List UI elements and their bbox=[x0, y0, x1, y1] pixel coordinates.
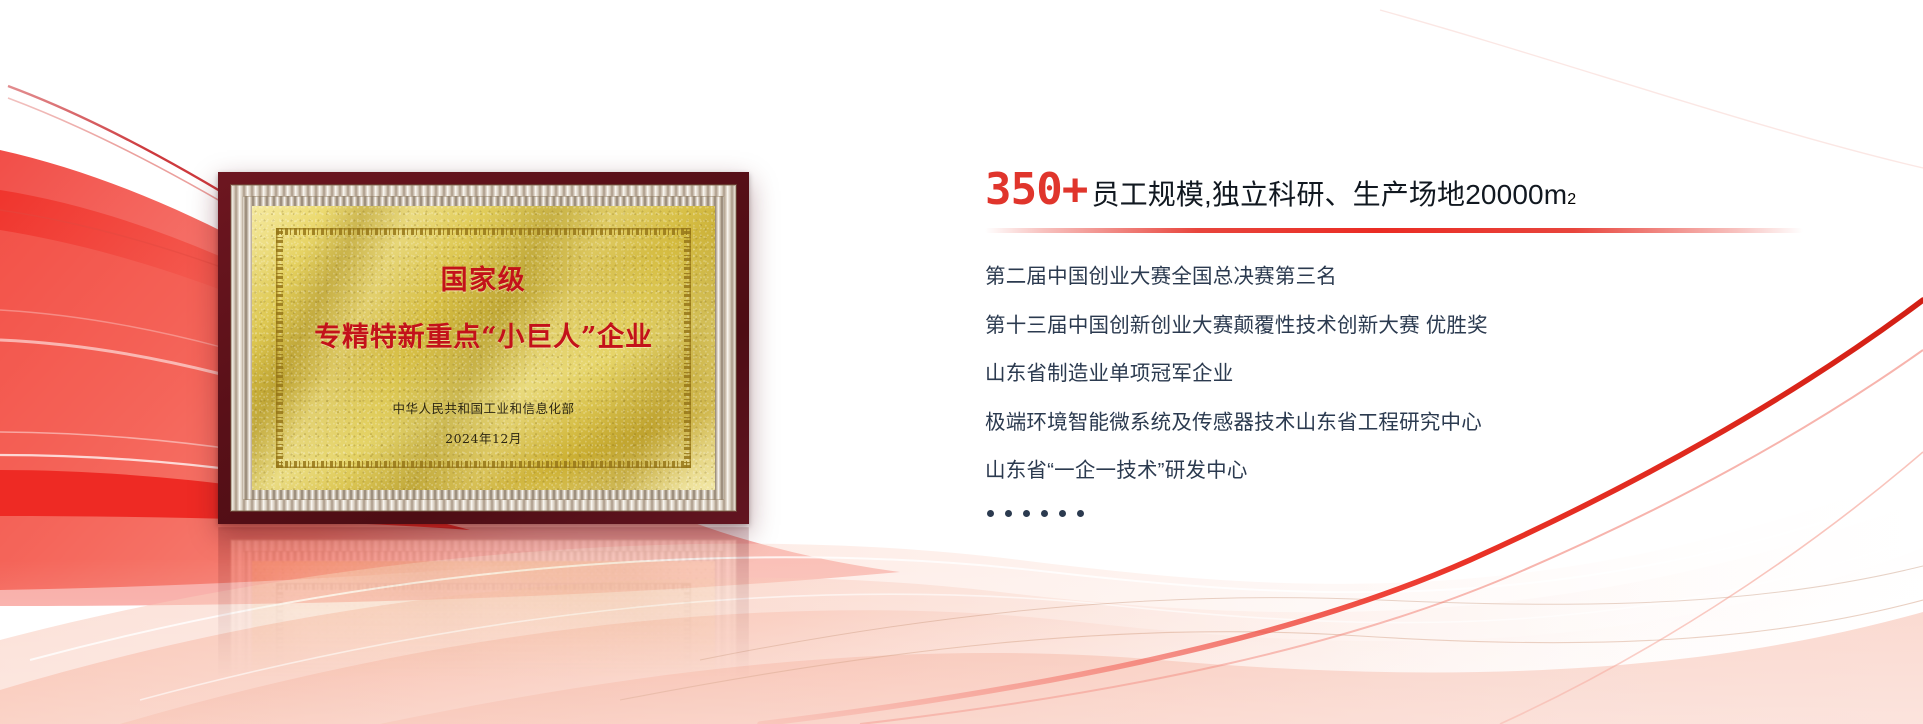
awards-list: 第二届中国创业大赛全国总决赛第三名 第十三届中国创新创业大赛颠覆性技术创新大赛 … bbox=[985, 267, 1885, 482]
plaque-mirror-grain bbox=[252, 561, 715, 724]
plaque-title-line-2: 专精特新重点“小巨人”企业 bbox=[314, 315, 653, 354]
headline-text: 员工规模,独立科研、生产场地20000m bbox=[1091, 181, 1567, 209]
plaque-title-line-1: 国家级 bbox=[441, 258, 527, 297]
ellipsis-dot bbox=[1005, 510, 1012, 517]
plaque-reflection bbox=[218, 527, 749, 724]
headline: 350+ 员工规模,独立科研、生产场地20000m 2 bbox=[985, 168, 1885, 212]
plaque-mirror-key-border bbox=[276, 583, 691, 724]
plaque-mirror-key-right bbox=[684, 583, 691, 724]
list-item: 第二届中国创业大赛全国总决赛第三名 bbox=[985, 267, 1885, 288]
plaque-mirror-ornament-inner bbox=[242, 551, 725, 724]
list-item: 极端环境智能微系统及传感器技术山东省工程研究中心 bbox=[985, 413, 1885, 434]
ellipsis-dot bbox=[987, 510, 994, 517]
list-item: 山东省制造业单项冠军企业 bbox=[985, 364, 1885, 385]
award-plaque: 国家级 专精特新重点“小巨人”企业 中华人民共和国工业和信息化部 2024年12… bbox=[218, 172, 749, 524]
plaque-frame: 国家级 专精特新重点“小巨人”企业 中华人民共和国工业和信息化部 2024年12… bbox=[218, 172, 749, 524]
headline-metric: 350+ bbox=[985, 168, 1087, 212]
plaque-mirror-frame bbox=[218, 527, 749, 724]
content-column: 350+ 员工规模,独立科研、生产场地20000m 2 第二届中国创业大赛全国总… bbox=[985, 168, 1885, 517]
ellipsis-dot bbox=[1077, 510, 1084, 517]
plaque-mirror-key-left bbox=[276, 583, 283, 724]
more-items-ellipsis bbox=[987, 510, 1885, 517]
plaque-date: 2024年12月 bbox=[445, 428, 522, 447]
list-item: 第十三届中国创新创业大赛颠覆性技术创新大赛 优胜奖 bbox=[985, 316, 1885, 337]
headline-superscript: 2 bbox=[1567, 192, 1576, 208]
plaque-text-block: 国家级 专精特新重点“小巨人”企业 中华人民共和国工业和信息化部 2024年12… bbox=[252, 206, 715, 490]
ellipsis-dot bbox=[1041, 510, 1048, 517]
banner-stage: 国家级 专精特新重点“小巨人”企业 中华人民共和国工业和信息化部 2024年12… bbox=[0, 0, 1923, 724]
plaque-gold-face: 国家级 专精特新重点“小巨人”企业 中华人民共和国工业和信息化部 2024年12… bbox=[252, 206, 715, 490]
ellipsis-dot bbox=[1059, 510, 1066, 517]
list-item: 山东省“一企一技术”研发中心 bbox=[985, 461, 1885, 482]
plaque-mirror-gold-face bbox=[252, 561, 715, 724]
plaque-issuer: 中华人民共和国工业和信息化部 bbox=[392, 398, 574, 417]
plaque-mirror-ornament-outer bbox=[231, 540, 736, 724]
plaque-mirror-image bbox=[218, 527, 749, 724]
ellipsis-dot bbox=[1023, 510, 1030, 517]
headline-divider bbox=[985, 228, 1803, 233]
